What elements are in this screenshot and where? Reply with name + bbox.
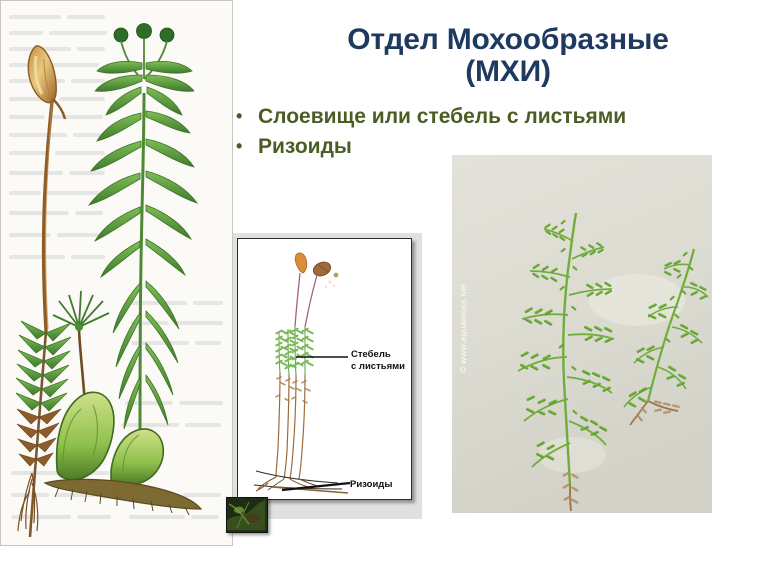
diagram-label-stem-line2: с листьями	[351, 361, 405, 373]
list-item: • Ризоиды	[236, 134, 676, 160]
photo-watermark: © www.aquamoss.net	[458, 283, 468, 373]
left-botanical-illustration	[0, 0, 233, 546]
moss-photo-svg	[452, 155, 712, 513]
slide-canvas: Стебель с листьями Ризоиды	[0, 0, 780, 585]
page-title-line2: (МХИ)	[248, 56, 768, 88]
bullet-text: Ризоиды	[258, 134, 676, 160]
bullet-marker-icon: •	[236, 104, 258, 128]
page-title: Отдел Мохообразные (МХИ)	[248, 24, 768, 89]
moss-photograph: © www.aquamoss.net	[452, 155, 712, 513]
bullet-text: Слоевище или стебель с листьями	[258, 104, 676, 130]
diagram-label-rhizoids: Ризоиды	[350, 479, 392, 491]
diagram-label-stem-line1: Стебель	[351, 349, 405, 361]
moss-thumbnail-svg	[227, 498, 265, 530]
moss-thumbnail-photo	[226, 497, 268, 533]
list-item: • Слоевище или стебель с листьями	[236, 104, 676, 130]
diagram-inner-panel: Стебель с листьями Ризоиды	[237, 238, 412, 500]
bullet-list: • Слоевище или стебель с листьями • Ризо…	[236, 104, 676, 165]
diagram-label-stem: Стебель с листьями	[351, 349, 405, 372]
bullet-marker-icon: •	[236, 134, 258, 158]
page-title-line1: Отдел Мохообразные	[248, 24, 768, 56]
botanical-illustration-svg	[1, 1, 232, 545]
moss-structure-diagram: Стебель с листьями Ризоиды	[233, 233, 422, 519]
